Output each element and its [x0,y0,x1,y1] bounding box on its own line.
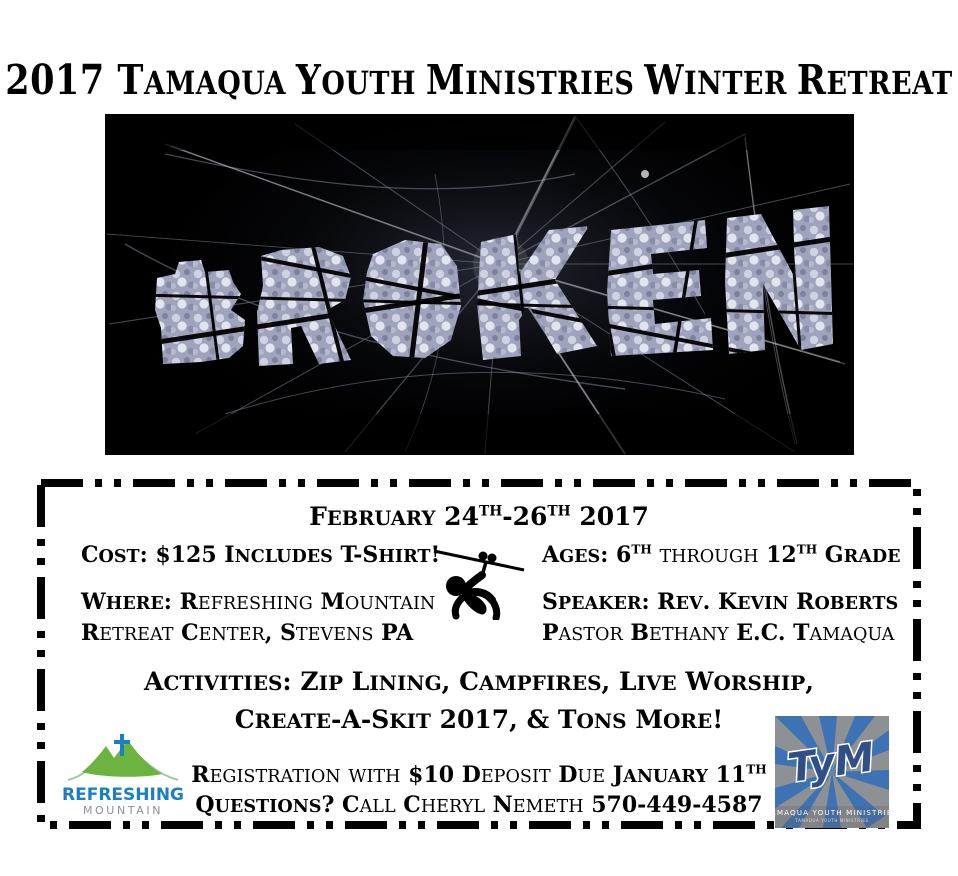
title-seg-8: W [644,56,684,104]
title-seg-3: AMAQUA [144,65,296,102]
title-seg-11: ETREAT [826,65,952,102]
title-seg-1: 2017 [5,56,117,104]
cost-line: COST: $125 INCLUDES T-SHIRT! [81,542,440,568]
where-line-1: WHERE: REFRESHING MOUNTAIN [81,589,435,615]
title-seg-4: Y [296,56,322,104]
speaker-line-2: PASTOR BETHANY E.C. TAMAQUA [542,620,894,646]
title-seg-10: R [797,56,827,104]
where-line-2: RETREAT CENTER, STEVENS PA [81,620,413,646]
tym-subtitle: TAMAQUA YOUTH MINISTRIES [775,808,889,817]
broken-glass-graphic [105,114,854,455]
title-seg-5: OUTH [321,65,426,102]
title-seg-7: INISTRIES [465,65,644,102]
refreshing-mountain-wordmark-line1: REFRESHING [62,785,184,805]
flyer-poster: 2017 TAMAQUA YOUTH MINISTRIES WINTER RET… [0,0,958,876]
tym-subtitle-secondary: TAMAQUA YOUTH MINISTRIES [794,818,868,823]
hero-image-broken [105,114,854,455]
refreshing-mountain-wordmark-line2: MOUNTAIN [83,804,163,817]
refreshing-mountain-logo: REFRESHING MOUNTAIN [62,728,184,820]
speaker-line-1: SPEAKER: REV. KEVIN ROBERTS [542,589,898,615]
activities-line-1: ACTIVITIES: ZIP LINING, CAMPFIRES, LIVE … [37,667,921,696]
title-seg-6: M [426,56,465,104]
tym-logo: TyM TAMAQUA YOUTH MINISTRIES TAMAQUA YOU… [775,716,889,828]
event-date: FEBRUARY 24TH-26TH 2017 [37,502,921,531]
title-seg-9: INTER [684,65,797,102]
page-title: 2017 TAMAQUA YOUTH MINISTRIES WINTER RET… [0,56,958,104]
title-seg-2: T [117,56,144,104]
zipline-rider-icon [420,528,530,620]
ages-line: AGES: 6TH THROUGH 12TH GRADE [542,542,901,568]
